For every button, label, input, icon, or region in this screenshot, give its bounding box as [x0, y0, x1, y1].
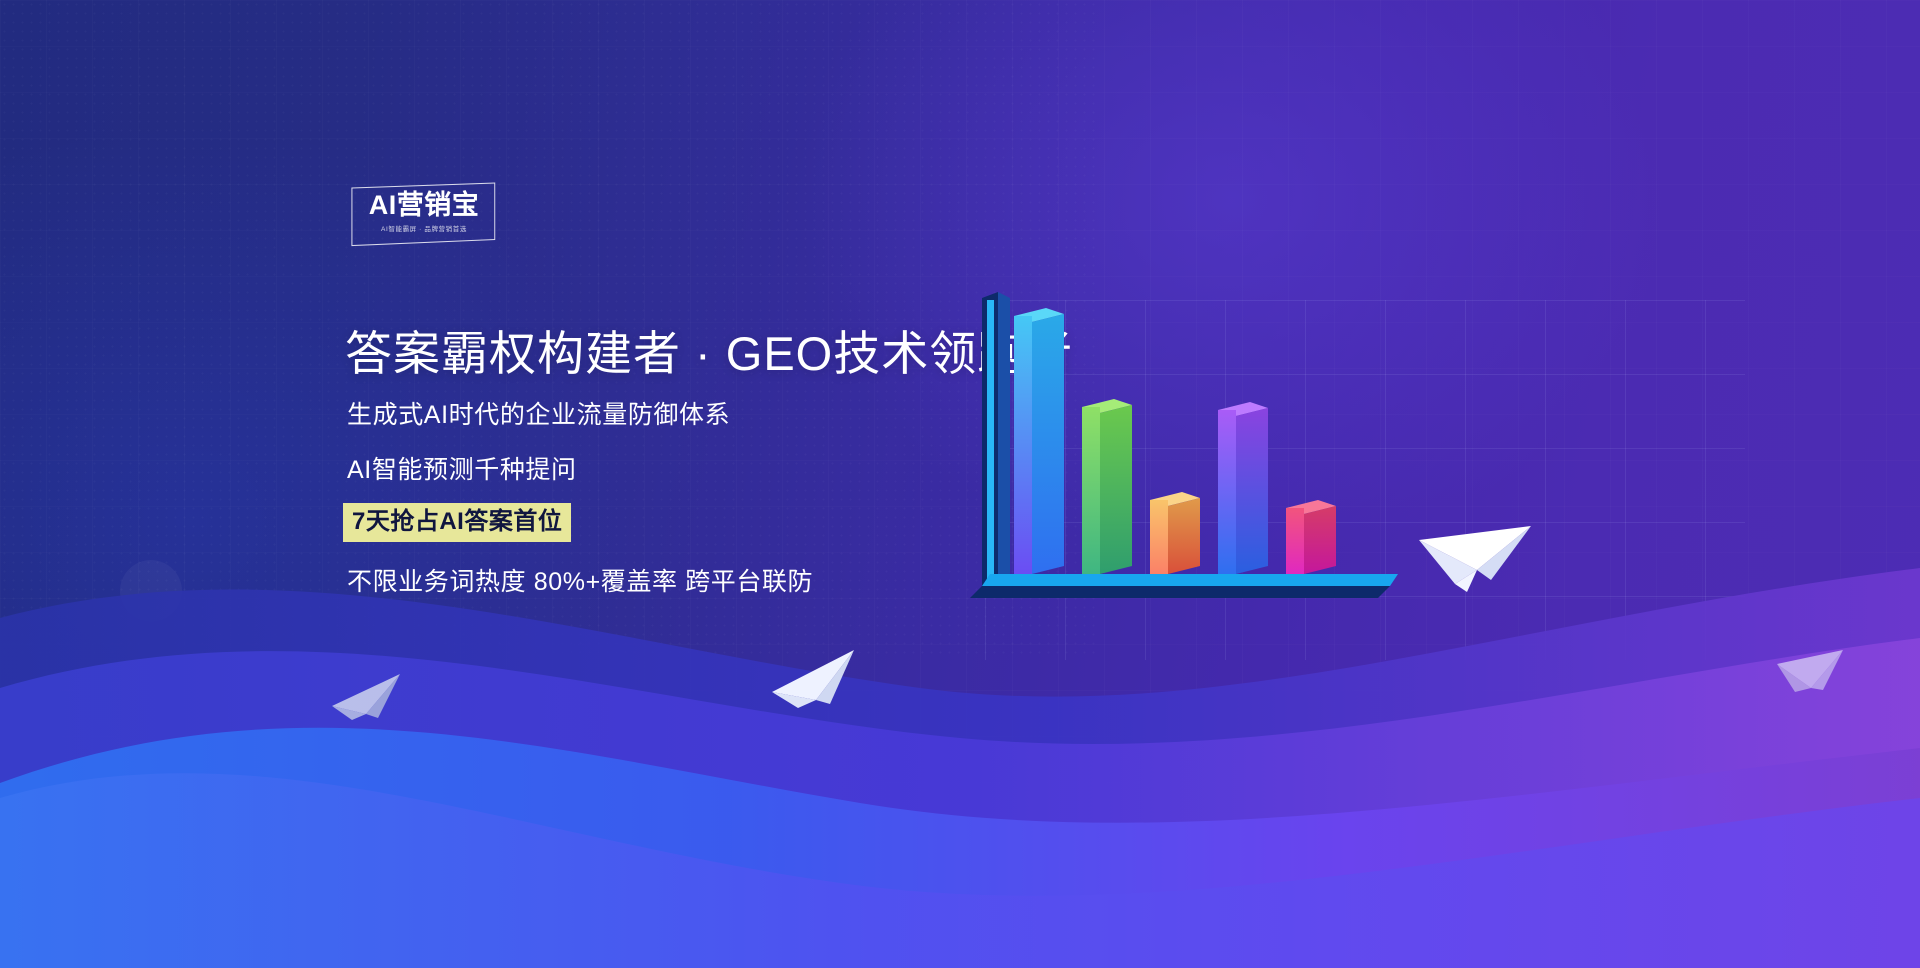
brand-logo[interactable]: AI营销宝 AI智能霸屏 · 品牌营销首选 — [352, 185, 496, 243]
wave-decoration — [0, 498, 1920, 968]
feature-list-line: 不限业务词热度 80%+覆盖率 跨平台联防 — [347, 562, 813, 598]
page-title: 答案霸权构建者 · GEO技术领跑者 — [345, 315, 1073, 384]
highlight-badge: 7天抢占AI答案首位 — [343, 503, 571, 542]
chart-y-axis — [982, 292, 1010, 586]
subtitle-line-1: 生成式AI时代的企业流量防御体系 — [347, 395, 730, 431]
chart-bar-5 — [1286, 500, 1336, 574]
logo-text: AI营销宝 — [352, 192, 496, 219]
hero-banner: AI营销宝 AI智能霸屏 · 品牌营销首选 答案霸权构建者 · GEO技术领跑者… — [0, 0, 1920, 968]
chart-bar-2 — [1082, 399, 1132, 574]
paper-plane-icon — [1775, 640, 1847, 694]
chart-bar-4 — [1218, 402, 1268, 574]
paper-plane-icon — [330, 668, 404, 724]
bar-chart — [970, 290, 1450, 665]
chart-base — [970, 574, 1398, 598]
logo-tagline: AI智能霸屏 · 品牌营销首选 — [352, 223, 496, 233]
paper-plane-icon — [768, 642, 860, 712]
subtitle-line-2: AI智能预测千种提问 — [347, 450, 577, 486]
paper-plane-icon — [1415, 508, 1535, 598]
chart-bar-3 — [1150, 492, 1200, 574]
chart-bar-1 — [1014, 308, 1064, 574]
